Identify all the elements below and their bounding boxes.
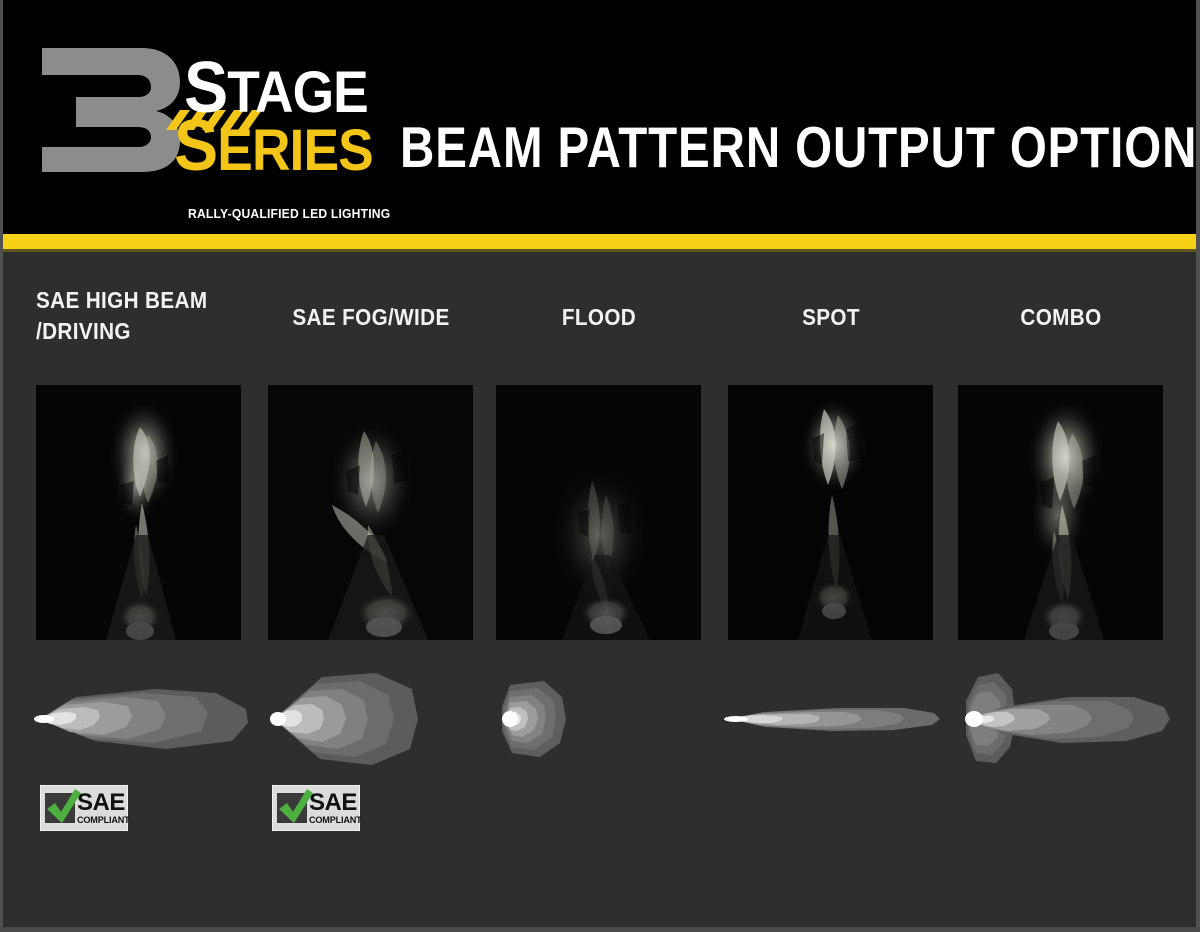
logo-series-rest: ERIES [217, 118, 373, 183]
beam-photo-sae-high-beam-driving[interactable] [36, 385, 241, 640]
beam-option-label-line-1: SAE FOG/WIDE [292, 304, 449, 330]
sae-compliant-badge: SAE COMPLIANT [272, 785, 360, 831]
night-road-photo [496, 385, 701, 640]
beam-option-label: SAE HIGH BEAM /DRIVING [36, 285, 243, 347]
page-title: BEAM PATTERN OUTPUT OPTIONS [400, 115, 1200, 181]
night-road-photo [268, 385, 473, 640]
beam-option-label: COMBO [958, 302, 1165, 333]
beam-diagram-combo [958, 669, 1176, 769]
night-road-photo [36, 385, 241, 640]
beam-option-label-line-1: SAE HIGH BEAM [36, 287, 207, 313]
sae-badge-text: SAE COMPLIANT [77, 791, 132, 826]
logo-series-cap: S [174, 106, 217, 186]
sae-badge-secondary: COMPLIANT [77, 816, 129, 826]
logo-tagline: RALLY-QUALIFIED LED LIGHTING [188, 207, 390, 221]
frame-edge-bottom [0, 927, 1200, 932]
beam-photo-flood[interactable] [496, 385, 701, 640]
beam-option-label: SPOT [728, 302, 935, 333]
frame-edge-left [0, 0, 3, 932]
beam-shape-fog-icon [268, 669, 486, 769]
beam-option-label: SAE FOG/WIDE [268, 302, 475, 333]
beam-photo-sae-fog-wide[interactable] [268, 385, 473, 640]
yellow-accent-bar [0, 234, 1200, 249]
beam-pattern-poster: STAGE SERIES RALLY-QUALIFIED LED LIGHTIN… [0, 0, 1200, 932]
beam-options-grid: SAE HIGH BEAM /DRIVING [0, 252, 1200, 927]
sae-badge-primary: SAE [309, 791, 364, 815]
beam-photo-combo[interactable] [958, 385, 1163, 640]
beam-option-label-line-1: COMBO [1020, 304, 1101, 330]
beam-shape-driving-icon [36, 669, 254, 769]
sae-check-box [45, 793, 75, 823]
sae-check-box [277, 793, 307, 823]
logo-word-series: SERIES [174, 110, 373, 182]
night-road-photo [728, 385, 933, 640]
poster-header: STAGE SERIES RALLY-QUALIFIED LED LIGHTIN… [0, 0, 1200, 234]
night-road-photo [958, 385, 1163, 640]
beam-shape-flood-icon [496, 669, 714, 769]
beam-option-label: FLOOD [496, 302, 703, 333]
three-stage-series-logo: STAGE SERIES RALLY-QUALIFIED LED LIGHTIN… [38, 44, 368, 184]
sae-badge-primary: SAE [77, 791, 132, 815]
beam-diagram-driving [36, 669, 254, 769]
sae-badge-secondary: COMPLIANT [309, 816, 361, 826]
beam-option-label-line-1: FLOOD [562, 304, 636, 330]
logo-numeral-three-icon [38, 44, 184, 176]
beam-photo-spot[interactable] [728, 385, 933, 640]
frame-edge-right [1196, 0, 1200, 932]
beam-diagram-fog [268, 669, 486, 769]
beam-option-label-line-2: /DRIVING [36, 318, 131, 344]
beam-option-label-line-1: SPOT [802, 304, 860, 330]
beam-diagram-spot [728, 669, 946, 769]
beam-shape-spot-icon [728, 669, 946, 769]
sae-badge-text: SAE COMPLIANT [309, 791, 364, 826]
beam-diagram-flood [496, 669, 714, 769]
beam-shape-combo-icon [958, 669, 1176, 769]
sae-compliant-badge: SAE COMPLIANT [40, 785, 128, 831]
